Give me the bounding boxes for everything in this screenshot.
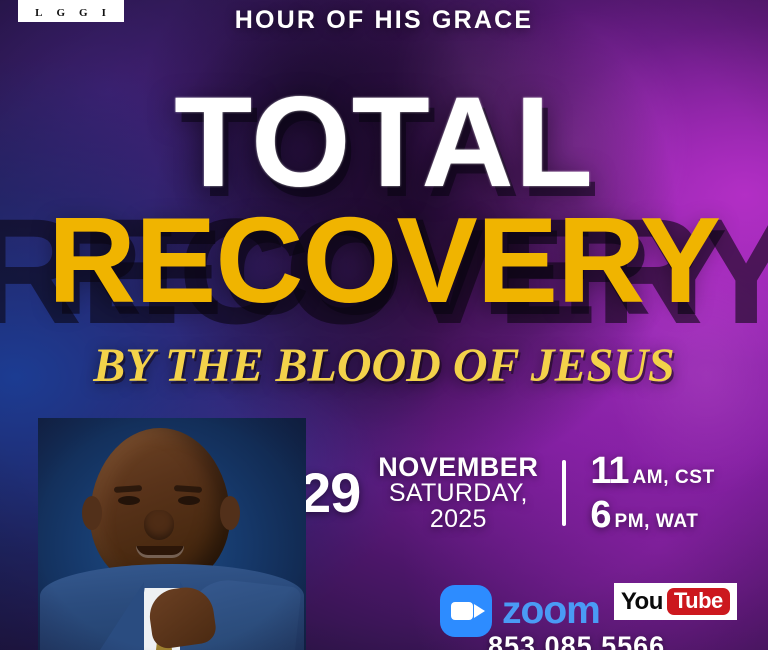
headline-line-total: TOTAL: [0, 88, 768, 198]
logo-mark: L G G I: [18, 0, 124, 22]
logo-letter: G: [56, 7, 66, 19]
logo-wordmark: IMPACT: [134, 0, 208, 22]
event-day: 29: [300, 465, 360, 521]
event-time: 11 AM, CST: [590, 452, 714, 490]
event-weekday: SATURDAY,: [389, 481, 528, 507]
zoom-camera-glyph: [451, 602, 473, 620]
headline: TOTAL RECOVERY: [0, 88, 768, 316]
event-times: 11 AM, CST 6 PM, WAT: [590, 452, 714, 534]
youtube-tube-text: Tube: [667, 588, 730, 615]
event-month: NOVEMBER: [378, 454, 538, 482]
youtube-you-text: You: [621, 590, 663, 614]
event-time-suffix: AM, CST: [632, 467, 714, 489]
event-time-suffix: PM, WAT: [614, 511, 698, 533]
logo-letter: G: [79, 7, 89, 19]
datetime-divider: [562, 460, 566, 526]
event-flyer: RECOVERY L G G I IMPACT HOUR OF HIS GRAC…: [0, 0, 768, 650]
speaker-portrait: [38, 418, 306, 650]
logo-letter: L: [35, 7, 43, 19]
event-date-words: NOVEMBER SATURDAY, 2025: [378, 454, 538, 533]
event-time-number: 11: [590, 452, 628, 490]
portrait-edge-fade: [38, 418, 306, 650]
event-time: 6 PM, WAT: [590, 496, 714, 534]
zoom-meeting-id: 853 085 5566: [488, 631, 665, 650]
headline-line-recovery: RECOVERY: [0, 206, 768, 316]
event-datetime: 29 NOVEMBER SATURDAY, 2025 11 AM, CST 6 …: [300, 452, 715, 534]
headline-subline: BY THE BLOOD OF JESUS: [0, 338, 768, 393]
logo-letters: L G G I: [18, 7, 124, 19]
platform-row: zoom 853 085 5566 You Tube: [440, 583, 737, 638]
brand-logo: L G G I IMPACT: [18, 0, 208, 22]
logo-letter: I: [102, 7, 107, 19]
video-camera-icon[interactable]: [440, 585, 492, 637]
event-time-number: 6: [590, 496, 610, 534]
zoom-block[interactable]: zoom 853 085 5566: [440, 585, 600, 637]
event-year: 2025: [430, 507, 487, 533]
zoom-wordmark: zoom: [502, 591, 600, 630]
youtube-logo[interactable]: You Tube: [614, 583, 737, 620]
